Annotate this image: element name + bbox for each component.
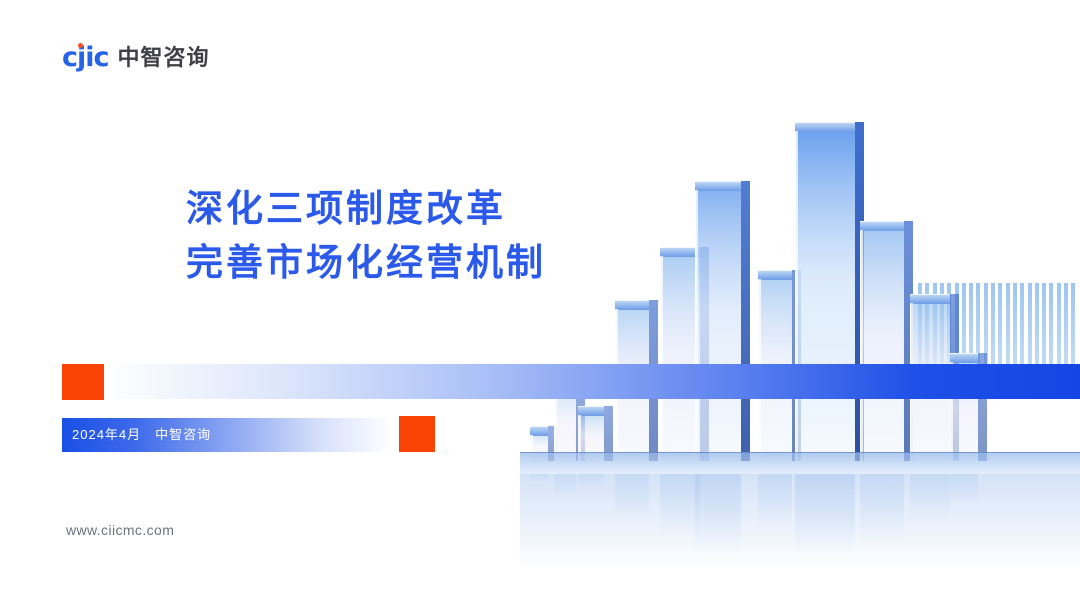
slide-cover: cjic 中智咨询 深化三项制度改革 完善市场化经营机制 2024年4月 中智咨… (0, 0, 1080, 608)
glass-bar-chart-graphic (520, 60, 1080, 530)
bar-reflection-b3 (578, 474, 604, 488)
logo-dot-icon (78, 43, 83, 48)
title-line-2: 完善市场化经营机制 (186, 236, 746, 290)
bar-reflection-b10 (910, 474, 950, 521)
bar-reflection-b4 (615, 474, 649, 520)
bar-b8 (795, 131, 855, 461)
title-line-1: 深化三项制度改革 (186, 182, 746, 236)
logo-wordmark: cjic (62, 44, 109, 71)
bar-b9 (860, 230, 904, 461)
bar-reflection-b7 (758, 474, 792, 529)
gradient-band-top (62, 364, 1080, 399)
bar-reflection-b11 (950, 474, 978, 504)
bar-reflection-b9 (860, 474, 904, 543)
bar-reflection-b6 (695, 474, 741, 554)
bar-reflection-b8 (795, 474, 855, 554)
accent-square-top (62, 364, 104, 400)
bar-reflection-b5 (660, 474, 700, 536)
page-title: 深化三项制度改革 完善市场化经营机制 (186, 182, 746, 290)
floor-edge-line (520, 452, 1080, 453)
website-label: www.ciicmc.com (66, 522, 174, 538)
logo-company-name: 中智咨询 (118, 47, 210, 69)
bar-reflection-b2 (554, 474, 576, 496)
date-and-org-label: 2024年4月 中智咨询 (72, 426, 211, 444)
bar-reflection-b1 (530, 474, 548, 482)
brand-logo: cjic 中智咨询 (62, 44, 210, 71)
accent-square-bottom (399, 416, 435, 452)
gradient-band-bottom: 2024年4月 中智咨询 (62, 418, 392, 452)
reflective-floor (520, 452, 1080, 474)
